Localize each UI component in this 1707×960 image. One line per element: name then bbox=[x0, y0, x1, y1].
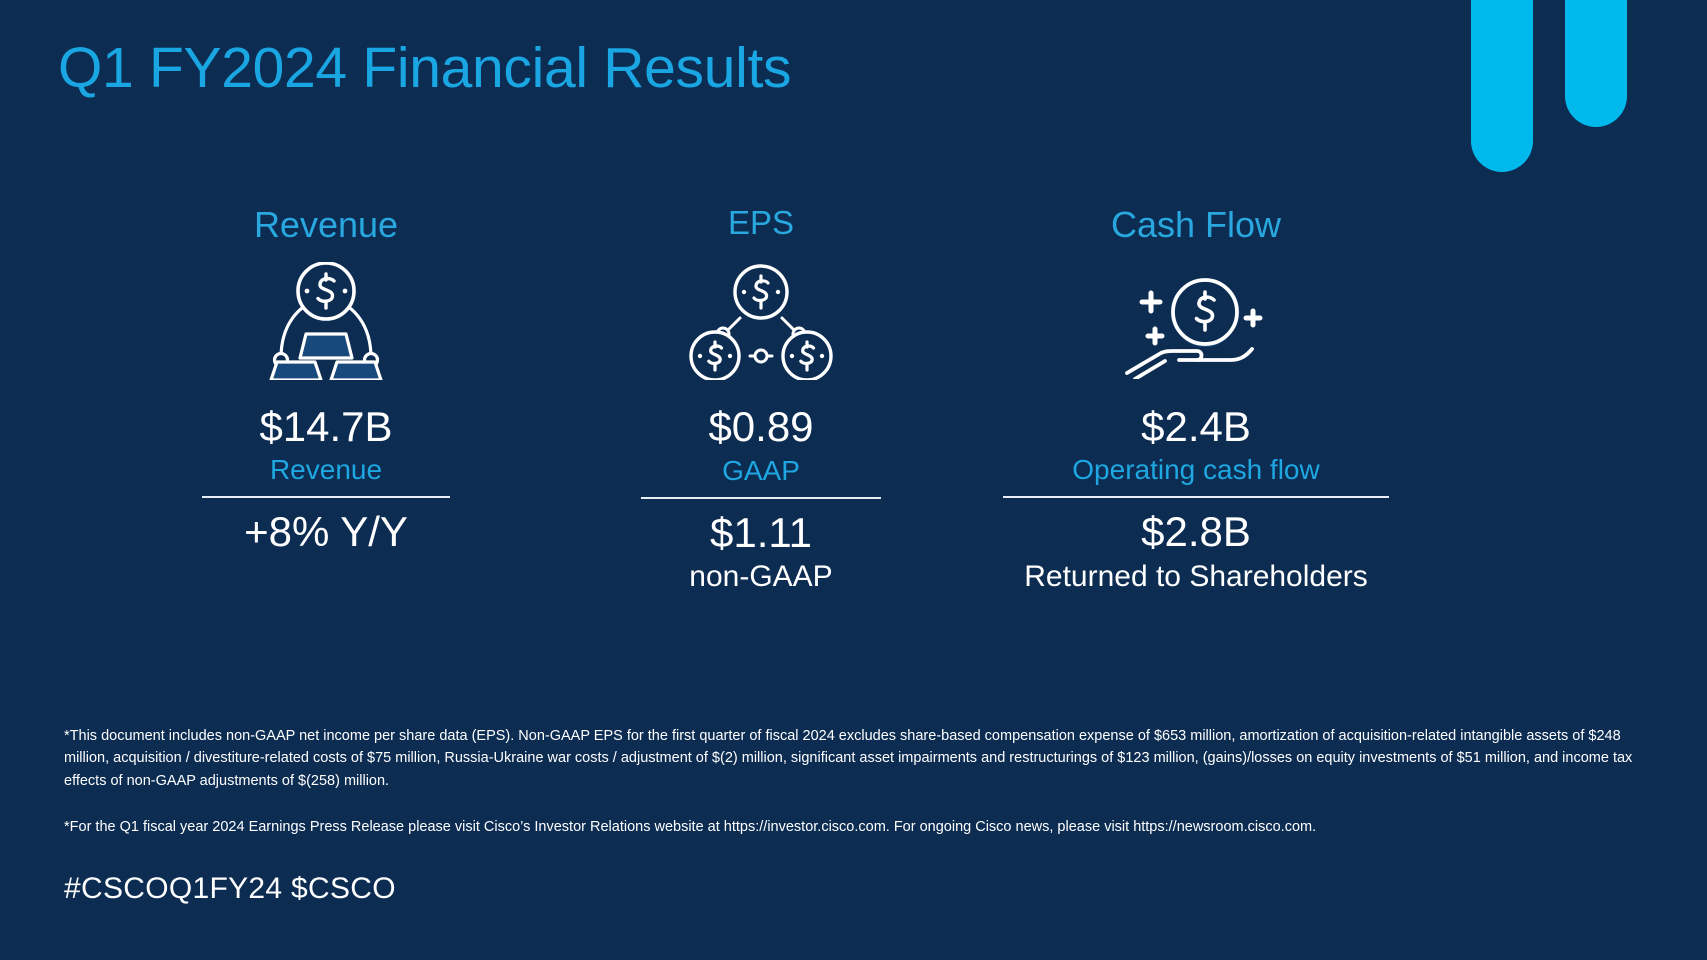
metric-divider-revenue bbox=[202, 496, 450, 498]
hashtag-ticker-line: #CSCOQ1FY24 $CSCO bbox=[64, 872, 396, 906]
metric-primary-value-eps: $0.89 bbox=[708, 403, 813, 451]
metric-secondary-value-eps: $1.11 bbox=[710, 509, 812, 557]
metric-heading-eps: EPS bbox=[728, 205, 794, 241]
metric-divider-cash-flow bbox=[1003, 496, 1389, 498]
footnote-non-gaap: *This document includes non-GAAP net inc… bbox=[64, 725, 1654, 792]
footnotes: *This document includes non-GAAP net inc… bbox=[64, 725, 1654, 839]
metric-heading-cash-flow: Cash Flow bbox=[1111, 205, 1281, 245]
metric-primary-label-eps: GAAP bbox=[722, 454, 800, 488]
logo-bar-right bbox=[1565, 0, 1627, 127]
metric-primary-value-revenue: $14.7B bbox=[259, 403, 392, 451]
metric-secondary-value-revenue: +8% Y/Y bbox=[244, 508, 408, 556]
metric-card-revenue: Revenue bbox=[86, 205, 566, 557]
metric-card-eps: EPS bbox=[566, 205, 956, 595]
metric-secondary-label-cash-flow: Returned to Shareholders bbox=[1024, 559, 1368, 595]
metric-primary-label-cash-flow: Operating cash flow bbox=[1072, 453, 1319, 487]
metric-secondary-value-cash-flow: $2.8B bbox=[1141, 508, 1251, 556]
metric-card-cash-flow: Cash Flow $2.4B Operating cash flow bbox=[966, 205, 1426, 595]
footnote-press-release: *For the Q1 fiscal year 2024 Earnings Pr… bbox=[64, 816, 1654, 838]
cisco-bridge-logo bbox=[1463, 0, 1663, 172]
metric-primary-value-cash-flow: $2.4B bbox=[1141, 403, 1251, 451]
logo-bar-left bbox=[1471, 0, 1533, 172]
metric-heading-revenue: Revenue bbox=[254, 205, 398, 245]
metric-secondary-label-eps: non-GAAP bbox=[689, 559, 832, 595]
three-coins-network-icon bbox=[688, 261, 834, 381]
coin-in-hand-icon bbox=[1121, 263, 1271, 383]
coin-and-gold-bars-icon bbox=[251, 261, 401, 381]
metrics-row: Revenue bbox=[0, 205, 1500, 595]
metric-primary-label-revenue: Revenue bbox=[270, 453, 382, 487]
metric-divider-eps bbox=[641, 497, 881, 499]
page-title: Q1 FY2024 Financial Results bbox=[58, 36, 791, 102]
